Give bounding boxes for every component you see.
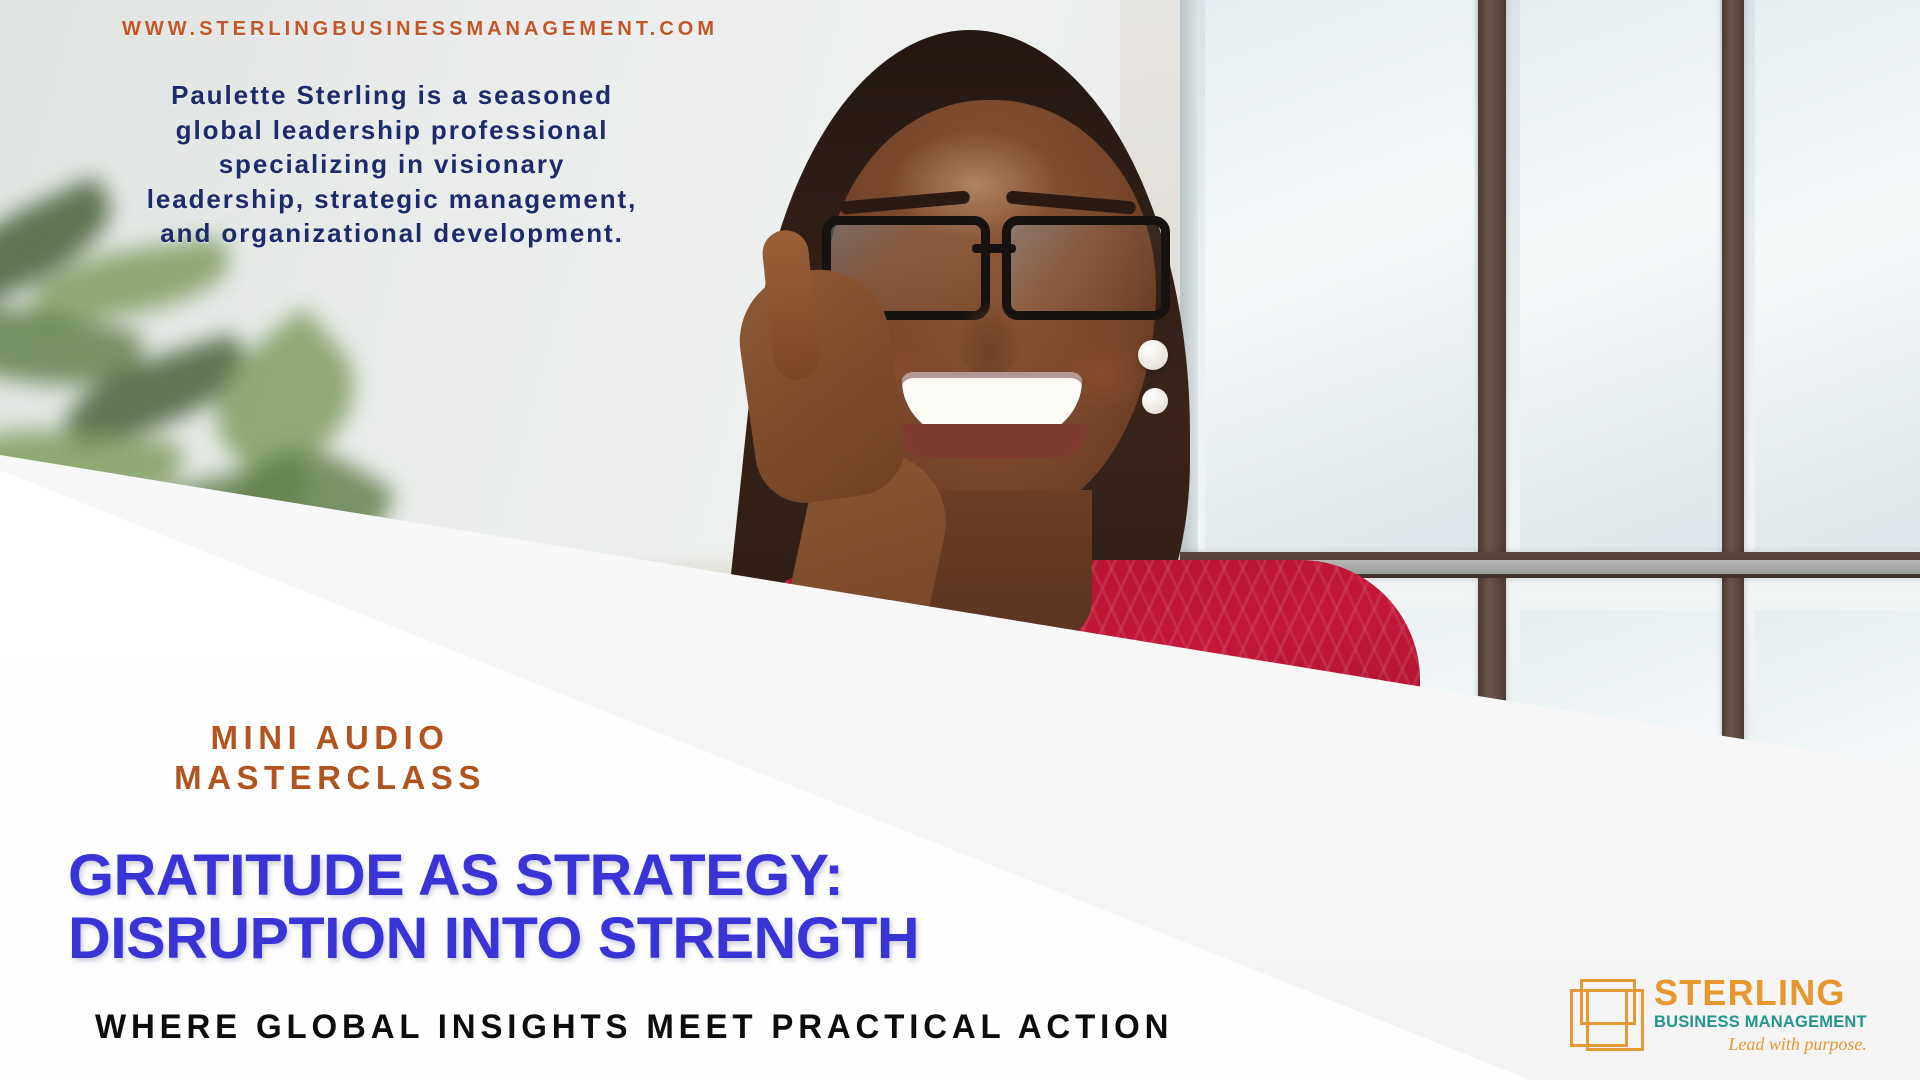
overlapping-squares-icon: [1568, 977, 1642, 1051]
eyebrow-line-1: MINI AUDIO: [95, 718, 565, 758]
bio-line: specializing in visionary: [22, 147, 762, 182]
eyebrow-line-2: MASTERCLASS: [95, 758, 565, 798]
logo-name: STERLING: [1654, 975, 1867, 1011]
bio-line: Paulette Sterling is a seasoned: [22, 78, 762, 113]
logo-tagline: Lead with purpose.: [1654, 1035, 1867, 1053]
eyebrow-label: MINI AUDIO MASTERCLASS: [95, 718, 565, 799]
promo-poster: WWW.STERLINGBUSINESSMANAGEMENT.COM Paule…: [0, 0, 1920, 1080]
logo-subtitle: BUSINESS MANAGEMENT: [1654, 1014, 1867, 1031]
lens-right: [1002, 216, 1170, 320]
website-url[interactable]: WWW.STERLINGBUSINESSMANAGEMENT.COM: [60, 18, 780, 41]
pearl-earring: [1142, 388, 1168, 414]
tagline-subtitle: WHERE GLOBAL INSIGHTS MEET PRACTICAL ACT…: [95, 1008, 1472, 1047]
lower-lip: [896, 424, 1088, 458]
headline-line-1: GRATITUDE AS STRATEGY:: [68, 845, 1343, 908]
bio-line: and organizational development.: [22, 216, 762, 251]
bio-paragraph: Paulette Sterling is a seasoned global l…: [22, 78, 762, 251]
page-title: GRATITUDE AS STRATEGY: DISRUPTION INTO S…: [68, 845, 1343, 970]
headline-line-2: DISRUPTION INTO STRENGTH: [68, 908, 1343, 971]
brand-logo[interactable]: STERLING BUSINESS MANAGEMENT Lead with p…: [1568, 960, 1868, 1068]
window-pane: [1755, 0, 1920, 550]
logo-text-block: STERLING BUSINESS MANAGEMENT Lead with p…: [1654, 975, 1867, 1054]
bio-line: global leadership professional: [22, 113, 762, 148]
window-pane: [1520, 0, 1720, 550]
pearl-earring: [1138, 340, 1168, 370]
nose: [956, 300, 1022, 376]
glasses-bridge: [972, 244, 1016, 253]
bio-line: leadership, strategic management,: [22, 182, 762, 217]
